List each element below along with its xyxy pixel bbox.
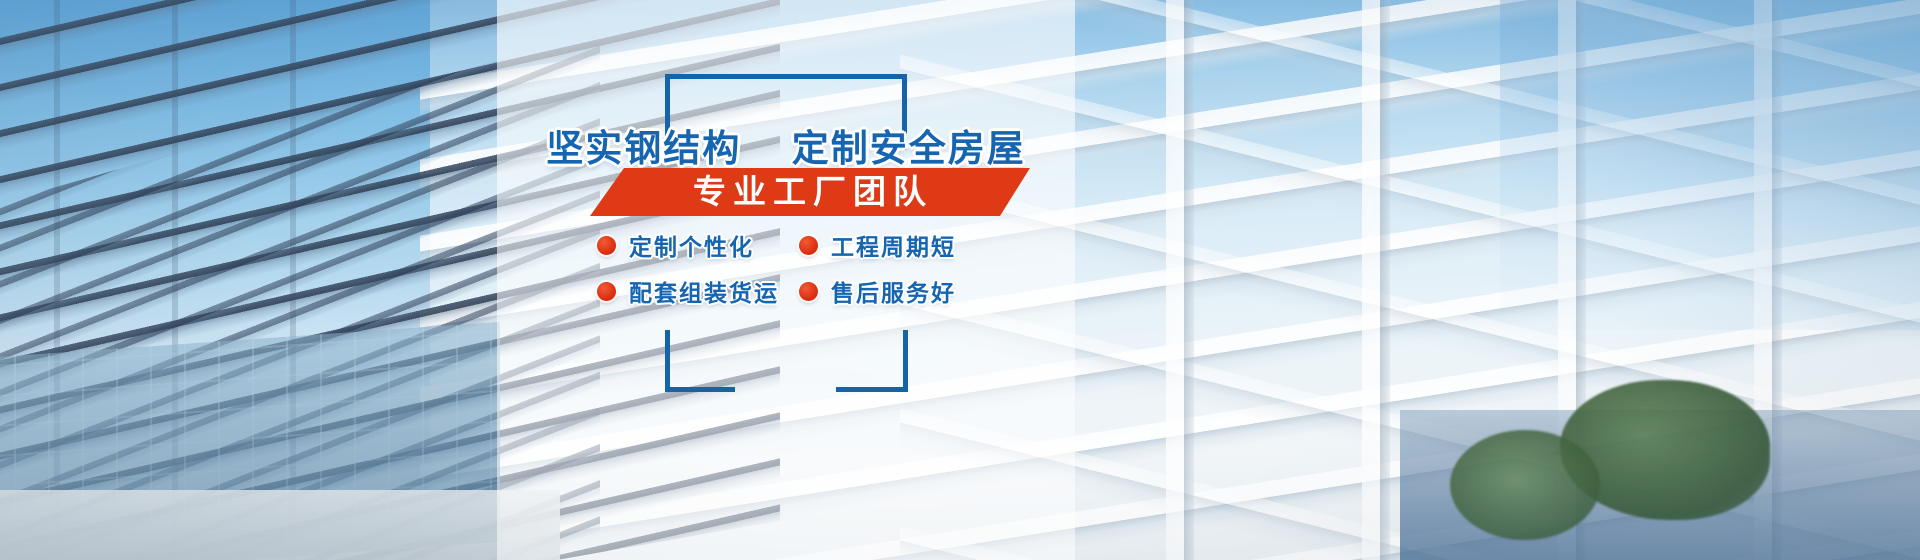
feature-item-2: 工程周期短 — [799, 228, 1075, 262]
feature-item-3: 配套组装货运 — [597, 274, 793, 308]
bullet-dot-icon — [597, 282, 616, 301]
headline-part-2: 定制安全房屋 — [792, 128, 1026, 169]
banner-headline: 坚实钢结构 定制安全房屋 — [497, 118, 1075, 172]
feature-item-4: 售后服务好 — [799, 274, 1075, 308]
feature-item-1: 定制个性化 — [597, 228, 793, 262]
feature-label: 配套组装货运 — [629, 274, 779, 308]
hero-banner: 坚实钢结构 定制安全房屋 专业工厂团队 定制个性化 工程周期短 配套组装货运 售… — [0, 0, 1920, 560]
bullet-dot-icon — [799, 282, 818, 301]
bullet-dot-icon — [799, 236, 818, 255]
ribbon-label: 专业工厂团队 — [687, 175, 933, 208]
ribbon-banner: 专业工厂团队 — [590, 168, 1030, 216]
feature-label: 工程周期短 — [831, 228, 956, 262]
feature-label: 售后服务好 — [831, 274, 956, 308]
feature-label: 定制个性化 — [629, 228, 754, 262]
feature-list: 定制个性化 工程周期短 配套组装货运 售后服务好 — [497, 228, 1075, 308]
headline-part-1: 坚实钢结构 — [546, 128, 741, 169]
bullet-dot-icon — [597, 236, 616, 255]
